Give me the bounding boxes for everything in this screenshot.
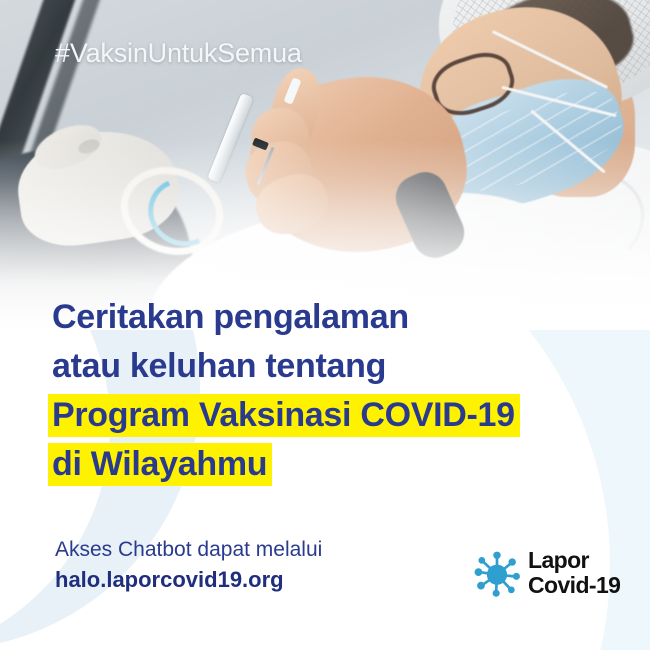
headline-highlight-4: di Wilayahmu: [48, 443, 272, 486]
headline-line-2: atau keluhan tentang: [52, 342, 612, 391]
logo-wordmark: Lapor Covid-19: [528, 548, 620, 598]
hashtag-text: #VaksinUntukSemua: [55, 38, 302, 69]
cta-url[interactable]: halo.laporcovid19.org: [55, 565, 322, 595]
headline-line-1: Ceritakan pengalaman: [52, 293, 612, 342]
lapor-covid-logo: Lapor Covid-19: [470, 545, 620, 601]
call-to-action: Akses Chatbot dapat melalui halo.laporco…: [55, 535, 322, 595]
headline-highlight-3: Program Vaksinasi COVID-19: [48, 394, 520, 437]
headline: Ceritakan pengalaman atau keluhan tentan…: [52, 293, 612, 489]
headline-line-3: Program Vaksinasi COVID-19: [52, 391, 612, 440]
headline-line-4: di Wilayahmu: [52, 440, 612, 489]
logo-text-line-2: Covid-19: [528, 573, 620, 598]
cta-label: Akses Chatbot dapat melalui: [55, 535, 322, 565]
logo-text-line-1: Lapor: [528, 548, 620, 573]
virus-icon: [470, 545, 524, 601]
vaccination-campaign-poster: #VaksinUntukSemua Ceritakan pengalaman a…: [0, 0, 650, 650]
